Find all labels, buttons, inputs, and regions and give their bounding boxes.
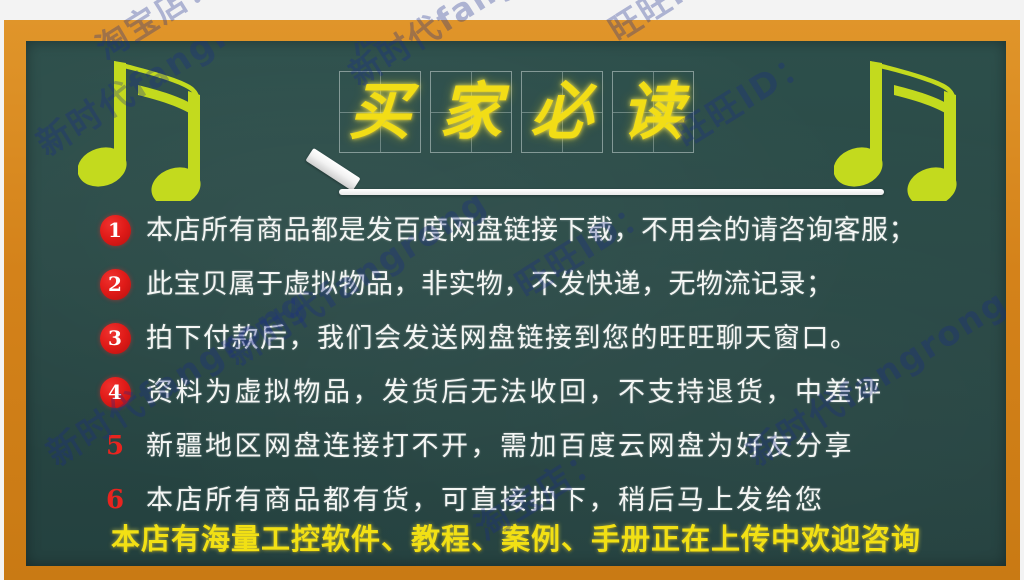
rules-list: 1 本店所有商品都是发百度网盘链接下载，不用会的请咨询客服； 2 此宝贝属于虚拟… [26,203,1006,527]
rule-number-badge: 2 [100,269,131,300]
rule-text: 资料为虚拟物品，发货后无法收回，不支持退货，中差评 [146,379,884,406]
rule-number-badge: 1 [100,215,131,246]
rule-marker: 4 [98,377,132,408]
rule-text: 新疆地区网盘连接打不开，需加百度云网盘为好友分享 [146,433,854,460]
rule-number-badge: 4 [100,377,131,408]
rule-number-badge: 3 [100,323,131,354]
chalk-stick-icon [305,148,360,191]
rule-text: 拍下付款后，我们会发送网盘链接到您的旺旺聊天窗口。 [146,325,859,352]
rule-number: 6 [106,487,124,513]
chalkboard: 买 家 必 读 [26,41,1006,566]
buyer-notice-poster: 淘宝店： 新时代fangrong 旺旺ID： [0,0,1024,580]
rule-marker: 2 [98,269,132,300]
rule-text: 本店所有商品都有货，可直接拍下，稍后马上发给您 [146,487,825,514]
footer-promo-text: 本店有海量工控软件、教程、案例、手册正在上传中欢迎咨询 [111,522,921,556]
list-item: 1 本店所有商品都是发百度网盘链接下载，不用会的请咨询客服； [26,203,1006,257]
footer-promo: 本店有海量工控软件、教程、案例、手册正在上传中欢迎咨询 [26,516,1006,558]
title-char: 必 [530,81,592,143]
rule-number: 5 [106,433,124,459]
title-char-cell: 读 [612,71,694,153]
page-title: 买 家 必 读 [26,71,1006,153]
rule-marker: 1 [98,215,132,246]
chalk-underline [339,189,884,195]
rule-text: 此宝贝属于虚拟物品，非实物，不发快递，无物流记录； [146,271,834,298]
list-item: 3 拍下付款后，我们会发送网盘链接到您的旺旺聊天窗口。 [26,311,1006,365]
rule-marker: 5 [98,433,132,459]
rule-marker: 6 [98,487,132,513]
rule-marker: 3 [98,323,132,354]
orange-frame: 买 家 必 读 [4,20,1020,580]
title-char: 买 [348,81,410,143]
list-item: 2 此宝贝属于虚拟物品，非实物，不发快递，无物流记录； [26,257,1006,311]
title-char-cell: 家 [430,71,512,153]
title-char-cell: 必 [521,71,603,153]
title-grid: 买 家 必 读 [339,71,694,153]
list-item: 5 新疆地区网盘连接打不开，需加百度云网盘为好友分享 [26,419,1006,473]
title-char: 家 [439,81,501,143]
rule-text: 本店所有商品都是发百度网盘链接下载，不用会的请咨询客服； [146,217,916,244]
title-char: 读 [621,81,683,143]
list-item: 4 资料为虚拟物品，发货后无法收回，不支持退货，中差评 [26,365,1006,419]
